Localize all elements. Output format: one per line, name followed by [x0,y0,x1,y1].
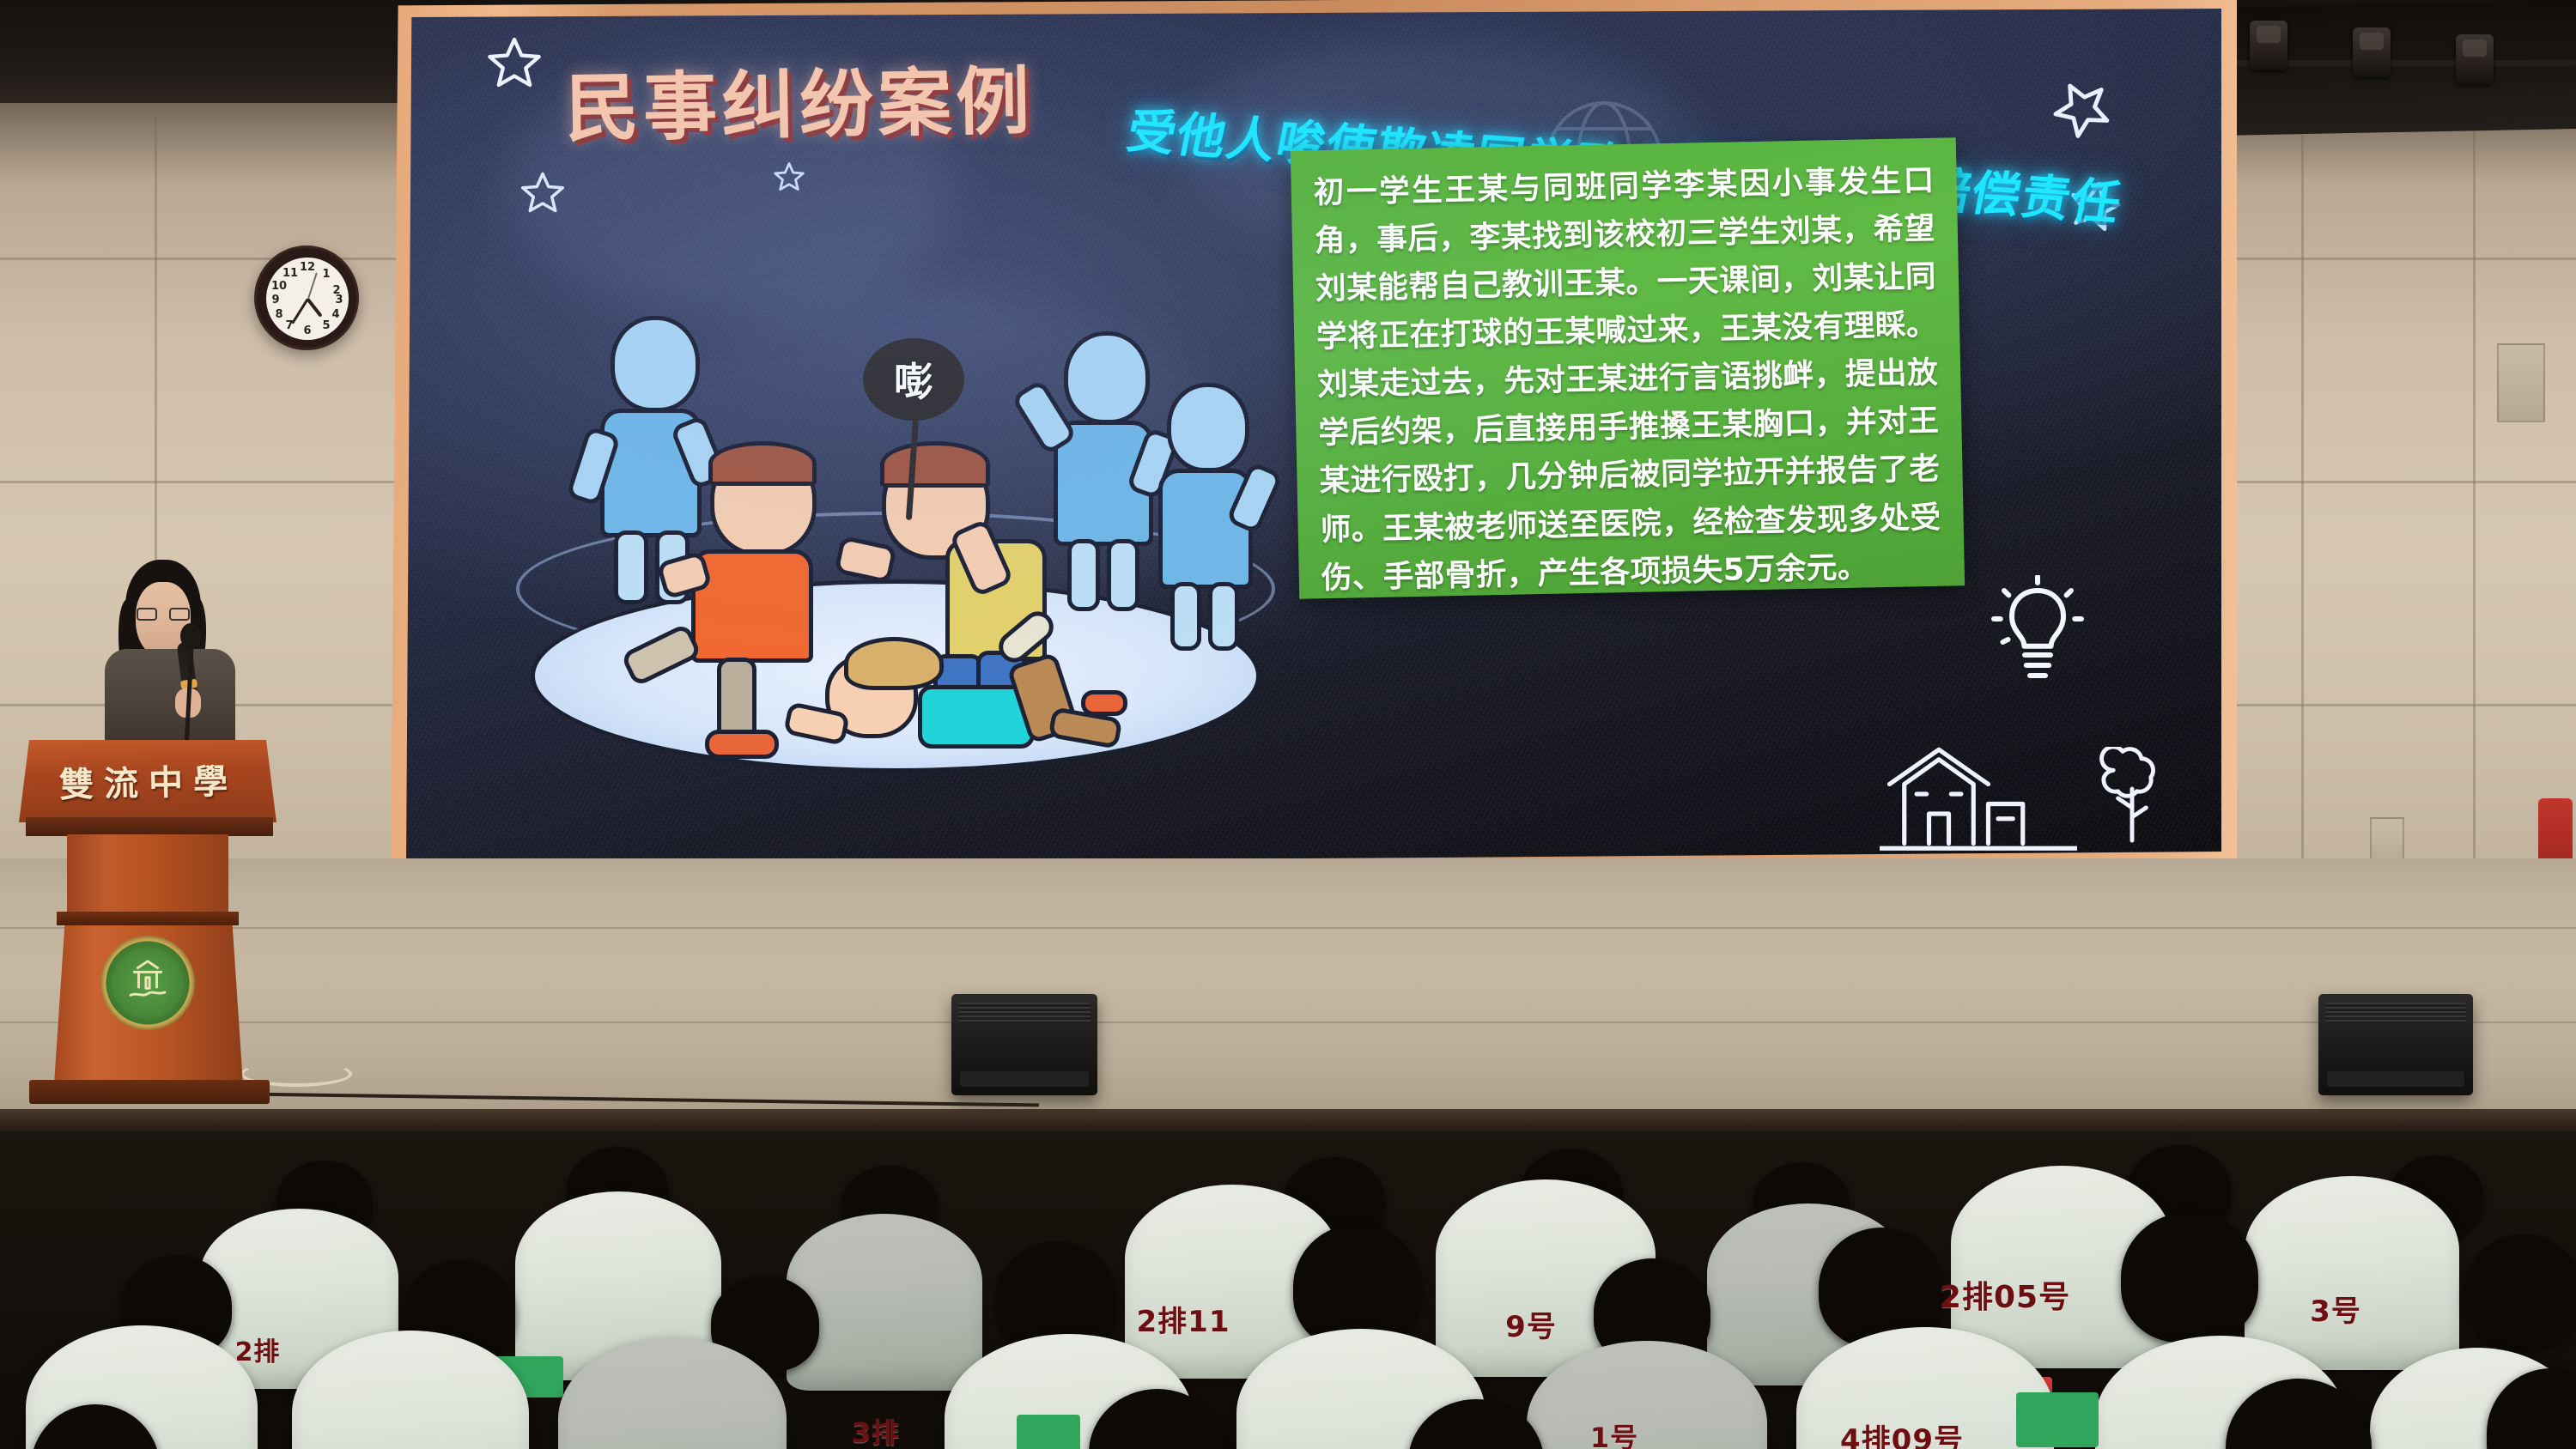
presenter [93,560,247,744]
screen-display-area: 民事纠纷案例 受他人唆使欺凌同学致人受伤应承担赔偿责任 [406,9,2221,865]
audience-seating [0,1131,2576,1449]
floor-monitor-speaker-right [2318,994,2473,1095]
clock-hour-hand [306,298,322,318]
glasses-icon [136,608,191,621]
speech-bubble: 嘭 [863,338,964,421]
seat-number-label: 4排09号 [1795,1416,2009,1449]
clock-number: 9 [268,294,283,306]
cartoon-victim-on-ground [793,628,1136,773]
floor-monitor-speaker-left [951,994,1097,1095]
school-building-chalk-icon [1880,730,2077,862]
seat[interactable] [2245,1176,2459,1370]
speaker-controls [2327,1071,2464,1087]
star-outline-icon [770,160,808,196]
ceiling-light [2456,34,2494,84]
slide-title: 民事纠纷案例 [564,41,1035,156]
seat-number-label: 3排 [756,1411,996,1449]
student-scarf [2016,1392,2099,1447]
clock-number: 5 [319,319,334,332]
clock-number: 1 [319,268,334,281]
clock-face: 12 1 2 3 4 5 6 7 8 9 10 11 [266,258,349,340]
stage-floor [0,858,2576,1150]
presenter-torso [105,649,235,750]
seat-number-label: 1号 [1528,1416,1700,1449]
clock-number: 6 [300,324,315,337]
clock-number: 11 [283,267,298,280]
clock-number: 10 [271,280,287,293]
speaker-grille [2325,1003,2466,1023]
case-text-panel: 初一学生王某与同班同学李某因小事发生口角，事后，李某找到该校初三学生刘某，希望刘… [1291,137,1965,598]
student-head [2464,1234,2576,1348]
clock-number: 3 [331,294,347,306]
star-outline-icon [482,33,547,96]
floor-seam [0,1022,2576,1023]
student-scarf [1017,1415,1080,1449]
speaker-grille [958,1003,1091,1023]
bullying-cartoon-illustration: 嘭 [509,300,1282,781]
seat-number-label: 3号 [2250,1288,2421,1330]
seat-number-label: 2排 [0,1331,515,1368]
ceiling-light [2250,21,2287,70]
tree-chalk-icon [2085,747,2179,853]
seat[interactable] [787,1214,982,1391]
lightbulb-chalk-icon [1986,575,2089,707]
led-presentation-screen[interactable]: 民事纠纷案例 受他人唆使欺凌同学致人受伤应承担赔偿责任 [391,0,2237,879]
seat-number-label: 2排11 [996,1298,1370,1340]
auditorium-scene: 12 1 2 3 4 5 6 7 8 9 10 11 [0,0,2576,1449]
podium-school-name: 雙流中學 [28,746,268,815]
wall-clock: 12 1 2 3 4 5 6 7 8 9 10 11 [254,246,359,350]
star-outline-icon [516,168,569,220]
seat-number-label: 9号 [1374,1303,1688,1345]
cartoon-bystander-right2 [1146,383,1284,632]
speaker-controls [960,1071,1089,1087]
clock-minute-hand [291,298,309,324]
seat-number-label: 2排05号 [1898,1272,2112,1317]
clock-number: 12 [300,261,315,274]
floor-seam [0,927,2576,929]
student-head [2121,1212,2258,1343]
podium-foot [29,1080,270,1104]
clock-number: 8 [271,308,287,321]
podium-band [57,912,239,925]
ceiling-light [2353,27,2391,77]
podium-microphone [180,623,201,649]
case-description-text: 初一学生王某与同班同学李某因小事发生口角，事后，李某找到该校初三学生刘某，希望刘… [1313,157,1942,603]
clock-second-hand [307,272,317,299]
podium-lip [26,817,273,836]
wall-panel [2497,343,2545,422]
school-emblem: SHUANGLIU MIDDLE SCHOOL [100,936,195,1030]
